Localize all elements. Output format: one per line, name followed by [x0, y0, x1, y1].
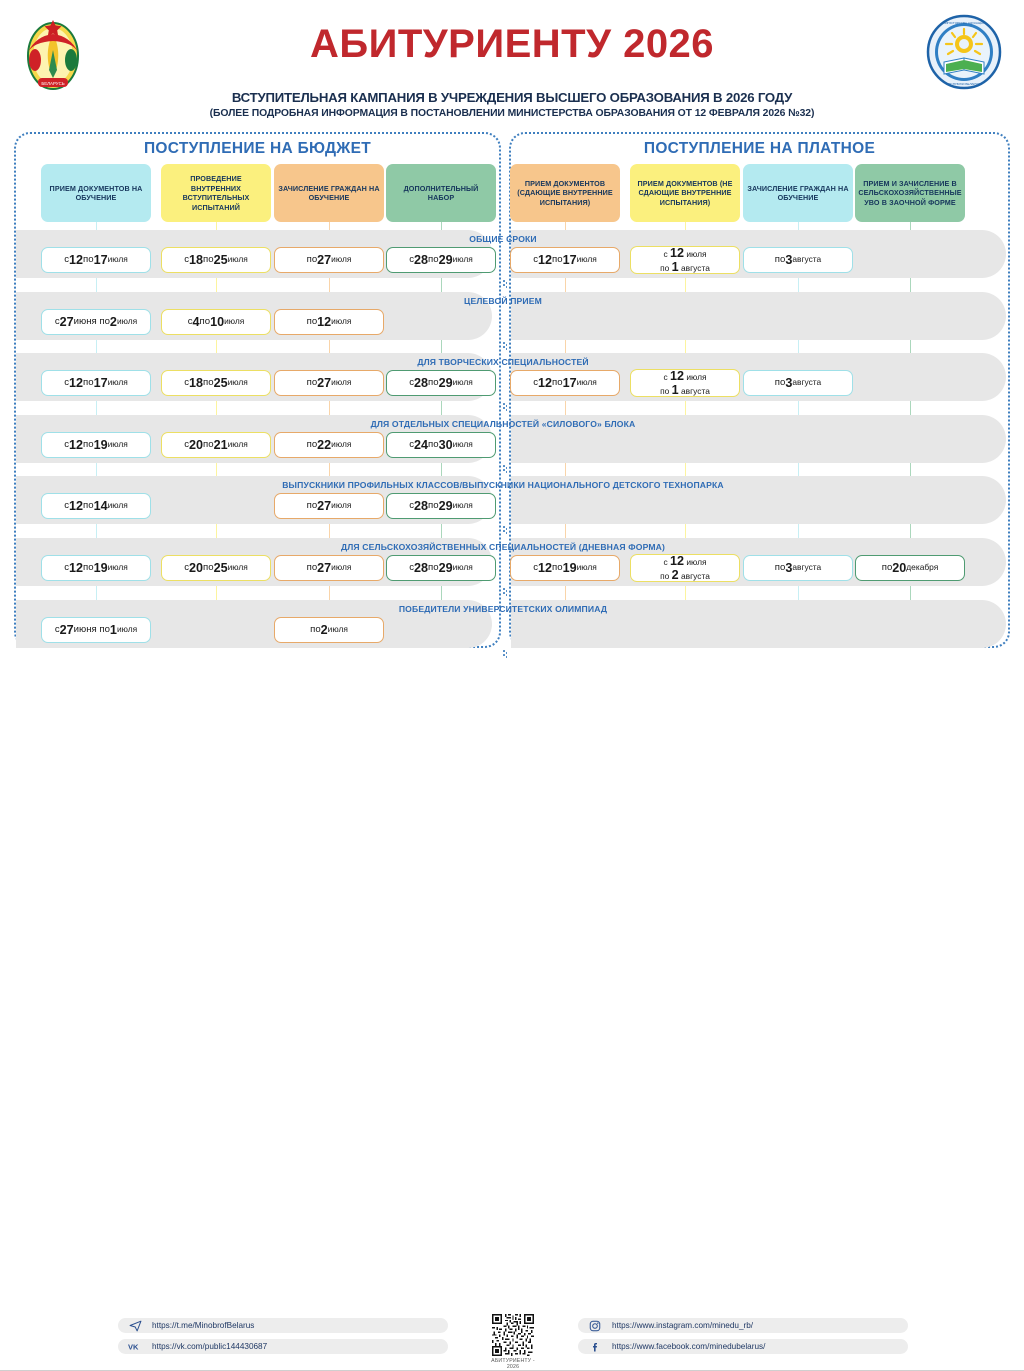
page-title: АБИТУРИЕНТУ 2026 [0, 22, 1024, 67]
column-header-paid-0: ПРИЕМ ДОКУМЕНТОВ (СДАЮЩИЕ ВНУТРЕННИЕ ИСП… [510, 164, 620, 222]
date-cell: по 3 августа [743, 247, 853, 273]
panel-separator-dots [503, 465, 507, 474]
panel-separator-dots [503, 342, 507, 351]
footer-link-instagram[interactable]: https://www.instagram.com/minedu_rb/ [578, 1318, 908, 1333]
date-cell: по 20 декабря [855, 555, 965, 581]
page-footer: https://t.me/MinobrofBelarus VK https://… [0, 652, 1024, 730]
date-cell: с 18 по 25 июля [161, 247, 271, 273]
column-header-paid-3: ПРИЕМ И ЗАЧИСЛЕНИЕ В СЕЛЬСКОХОЗЯЙСТВЕННЫ… [855, 164, 965, 222]
date-cell: с 28 по 29 июля [386, 493, 496, 519]
date-cell: по 3 августа [743, 370, 853, 396]
panel-separator-dots [503, 588, 507, 597]
date-cell: по 22 июля [274, 432, 384, 458]
column-header-paid-1: ПРИЕМ ДОКУМЕНТОВ (НЕ СДАЮЩИЕ ВНУТРЕННИЕ … [630, 164, 740, 222]
qr-code [492, 1314, 534, 1356]
svg-text:РЭСПУБЛІКІ БЕЛАРУСЬ: РЭСПУБЛІКІ БЕЛАРУСЬ [946, 82, 982, 86]
instagram-icon [578, 1320, 612, 1332]
schedule-board: ПОСТУПЛЕНИЕ НА БЮДЖЕТ ПОСТУПЛЕНИЕ НА ПЛА… [0, 132, 1024, 652]
row-label: ВЫПУСКНИКИ ПРОФИЛЬНЫХ КЛАССОВ/ВЫПУСКНИКИ… [0, 480, 1006, 490]
date-cell: с 28 по 29 июля [386, 370, 496, 396]
date-cell: с 20 по 21 июля [161, 432, 271, 458]
date-cell: с 24 по 30 июля [386, 432, 496, 458]
column-header-budget-3: ДОПОЛНИТЕЛЬНЫЙ НАБОР [386, 164, 496, 222]
date-cell: с 12 июляпо 1 августа [630, 246, 740, 274]
date-cell: по 3 августа [743, 555, 853, 581]
date-cell: с 27 июня по 2 июля [41, 309, 151, 335]
column-header-paid-2: ЗАЧИСЛЕНИЕ ГРАЖДАН НА ОБУЧЕНИЕ [743, 164, 853, 222]
page-header: БЕЛАРУСЬ МІНІСТЭРСТВА АДУКАЦЫІ РЭСПУБЛІК… [0, 0, 1024, 132]
date-cell: с 12 июляпо 1 августа [630, 369, 740, 397]
subtitle-line-1: ВСТУПИТЕЛЬНАЯ КАМПАНИЯ В УЧРЕЖДЕНИЯ ВЫСШ… [0, 90, 1024, 105]
date-cell: с 12 по 19 июля [41, 432, 151, 458]
panel-separator-dots [503, 280, 507, 289]
column-header-budget-0: ПРИЕМ ДОКУМЕНТОВ НА ОБУЧЕНИЕ [41, 164, 151, 222]
date-cell: с 12 по 19 июля [510, 555, 620, 581]
footer-link-instagram-url: https://www.instagram.com/minedu_rb/ [612, 1321, 753, 1330]
row-label: ЦЕЛЕВОЙ ПРИЕМ [0, 296, 1006, 306]
date-cell: по 27 июля [274, 370, 384, 396]
date-cell: с 12 по 17 июля [41, 247, 151, 273]
footer-link-telegram[interactable]: https://t.me/MinobrofBelarus [118, 1318, 448, 1333]
date-cell: с 4 по 10 июля [161, 309, 271, 335]
date-cell: с 28 по 29 июля [386, 555, 496, 581]
footer-link-telegram-url: https://t.me/MinobrofBelarus [152, 1321, 254, 1330]
date-cell: по 12 июля [274, 309, 384, 335]
footer-link-facebook[interactable]: https://www.facebook.com/minedubelarus/ [578, 1339, 908, 1354]
date-cell: по 27 июля [274, 555, 384, 581]
row-label: ДЛЯ СЕЛЬСКОХОЗЯЙСТВЕННЫХ СПЕЦИАЛЬНОСТЕЙ … [0, 542, 1006, 552]
date-cell: с 20 по 25 июля [161, 555, 271, 581]
footer-link-facebook-url: https://www.facebook.com/minedubelarus/ [612, 1342, 765, 1351]
svg-text:БЕЛАРУСЬ: БЕЛАРУСЬ [41, 81, 64, 86]
date-cell: по 2 июля [274, 617, 384, 643]
date-cell: по 27 июля [274, 493, 384, 519]
panel-separator-dots [503, 403, 507, 412]
panel-separator-dots [503, 526, 507, 535]
date-cell: с 28 по 29 июля [386, 247, 496, 273]
subtitle-line-2: (БОЛЕЕ ПОДРОБНАЯ ИНФОРМАЦИЯ В ПОСТАНОВЛЕ… [0, 108, 1024, 119]
facebook-icon [578, 1341, 612, 1353]
qr-caption: АБИТУРИЕНТУ - 2026 [485, 1358, 541, 1370]
date-cell: с 12 по 17 июля [510, 247, 620, 273]
date-cell: с 12 по 14 июля [41, 493, 151, 519]
date-cell: с 12 по 17 июля [41, 370, 151, 396]
footer-link-vk-url: https://vk.com/public144430687 [152, 1342, 267, 1351]
svg-text:VK: VK [128, 1342, 139, 1351]
row-label: ОБЩИЕ СРОКИ [0, 234, 1006, 244]
date-cell: с 12 июляпо 2 августа [630, 554, 740, 582]
vk-icon: VK [118, 1341, 152, 1352]
column-header-budget-1: ПРОВЕДЕНИЕ ВНУТРЕННИХ ВСТУПИТЕЛЬНЫХ ИСПЫ… [161, 164, 271, 222]
date-cell: с 27 июня по 1 июля [41, 617, 151, 643]
date-cell: с 12 по 19 июля [41, 555, 151, 581]
date-cell: с 12 по 17 июля [510, 370, 620, 396]
qr-code-block: АБИТУРИЕНТУ - 2026 [485, 1314, 541, 1370]
telegram-icon [118, 1319, 152, 1332]
row-label: ПОБЕДИТЕЛИ УНИВЕРСИТЕТСКИХ ОЛИМПИАД [0, 604, 1006, 614]
column-header-budget-2: ЗАЧИСЛЕНИЕ ГРАЖДАН НА ОБУЧЕНИЕ [274, 164, 384, 222]
footer-link-vk[interactable]: VK https://vk.com/public144430687 [118, 1339, 448, 1354]
date-cell: по 27 июля [274, 247, 384, 273]
date-cell: с 18 по 25 июля [161, 370, 271, 396]
row-label: ДЛЯ ТВОРЧЕСКИХ СПЕЦИАЛЬНОСТЕЙ [0, 357, 1006, 367]
row-label: ДЛЯ ОТДЕЛЬНЫХ СПЕЦИАЛЬНОСТЕЙ «СИЛОВОГО» … [0, 419, 1006, 429]
